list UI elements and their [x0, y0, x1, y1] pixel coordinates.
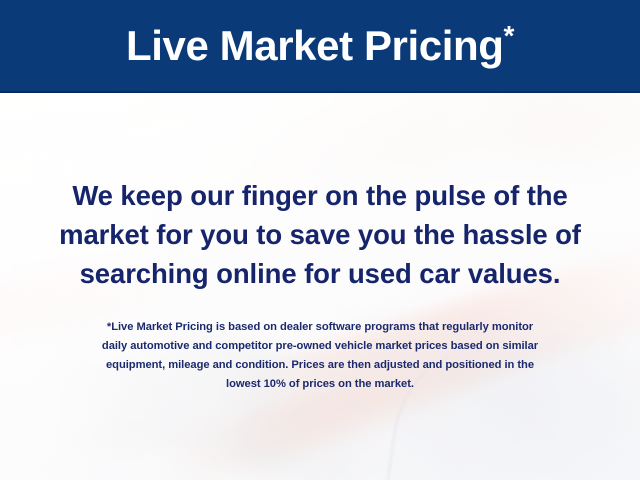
- disclaimer-block: *Live Market Pricing is based on dealer …: [0, 318, 640, 394]
- headline-line: searching online for used car values.: [0, 254, 640, 293]
- disclaimer-line: lowest 10% of prices on the market.: [0, 375, 640, 394]
- disclaimer-line: *Live Market Pricing is based on dealer …: [0, 318, 640, 337]
- page-title: Live Market Pricing*: [126, 25, 514, 67]
- title-banner: Live Market Pricing*: [0, 0, 640, 93]
- headline-block: We keep our finger on the pulse of the m…: [0, 176, 640, 293]
- page-title-text: Live Market Pricing: [126, 22, 504, 69]
- page-title-asterisk: *: [504, 20, 515, 51]
- disclaimer-line: equipment, mileage and condition. Prices…: [0, 356, 640, 375]
- headline-line: We keep our finger on the pulse of the: [0, 176, 640, 215]
- live-market-pricing-promo: Live Market Pricing* We keep our finger …: [0, 0, 640, 480]
- disclaimer-line: daily automotive and competitor pre-owne…: [0, 337, 640, 356]
- headline-line: market for you to save you the hassle of: [0, 215, 640, 254]
